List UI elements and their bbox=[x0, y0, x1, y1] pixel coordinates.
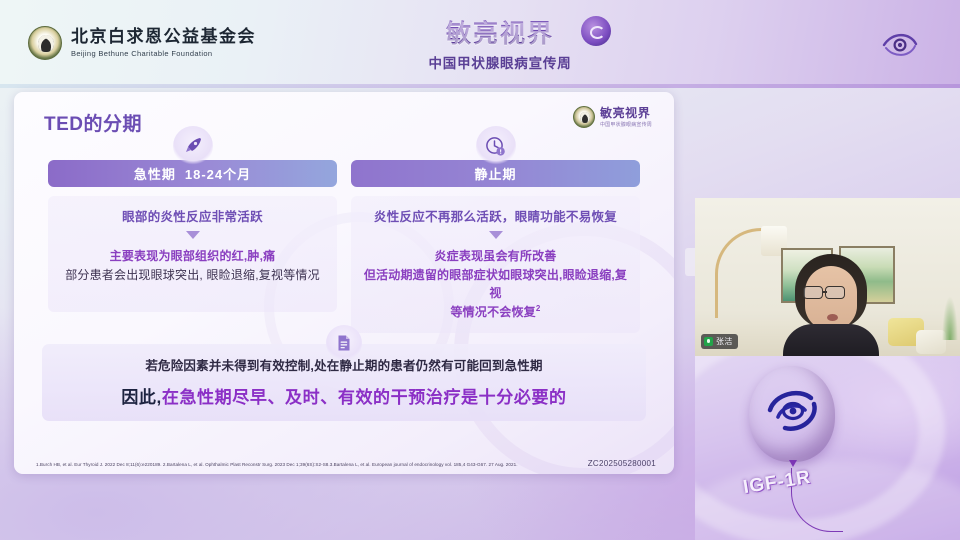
participant-name-badge: 张洁 bbox=[701, 334, 738, 349]
balloon-knot bbox=[789, 460, 797, 467]
participant-figure bbox=[783, 254, 879, 358]
glasses-right-lens bbox=[825, 286, 845, 299]
inactive-line-1: 炎症表现虽会有所改善 bbox=[359, 247, 632, 266]
purple-balloon bbox=[749, 366, 835, 462]
inactive-line-3: 等情况不会恢复2 bbox=[359, 303, 632, 322]
arrow-down-icon bbox=[186, 231, 200, 239]
foundation-brand: 北京白求恩公益基金会 Beijing Bethune Charitable Fo… bbox=[28, 26, 256, 60]
references-footnote: 1.Burch HB, et al. Eur Thyroid J. 2022 D… bbox=[36, 462, 596, 467]
eye-logo-icon bbox=[880, 24, 920, 64]
participant-name: 张洁 bbox=[716, 336, 733, 347]
acute-duration: 18-24个月 bbox=[185, 164, 251, 183]
foundation-name-en: Beijing Bethune Charitable Foundation bbox=[71, 49, 256, 58]
acute-lead-text: 眼部的炎性反应非常活跃 bbox=[56, 206, 329, 225]
conclusion-emphasis: 在急性期尽早、及时、有效的干预治疗是十分必要的 bbox=[162, 388, 567, 407]
panel-collapse-handle[interactable] bbox=[685, 248, 695, 276]
conclusion-band: 若危险因素并未得到有效控制,处在静止期的患者仍然有可能回到急性期 因此,在急性期… bbox=[42, 344, 646, 421]
webinar-stage: 北京白求恩公益基金会 Beijing Bethune Charitable Fo… bbox=[0, 0, 960, 540]
inactive-label: 静止期 bbox=[474, 164, 516, 183]
inactive-lead-text: 炎性反应不再那么活跃，眼睛功能不易恢复 bbox=[359, 206, 632, 225]
clock-alert-icon bbox=[476, 126, 516, 166]
slide-logo-subtitle: 中国甲状腺眼病宣传周 bbox=[600, 121, 652, 128]
mouth bbox=[827, 314, 838, 321]
bethune-seal-icon bbox=[28, 26, 62, 60]
plant bbox=[942, 296, 958, 340]
eye-swirl-icon bbox=[765, 384, 821, 438]
foundation-name-cn: 北京白求恩公益基金会 bbox=[71, 28, 256, 47]
approval-code: ZC202505280001 bbox=[588, 459, 656, 468]
column-body-inactive: 炎性反应不再那么活跃，眼睛功能不易恢复 炎症表现虽会有所改善 但活动期遗留的眼部… bbox=[351, 196, 640, 333]
glasses-left-lens bbox=[803, 286, 823, 299]
campaign-subtitle: 中国甲状腺眼病宣传周 bbox=[395, 52, 605, 72]
column-acute-phase: 急性期 18-24个月 眼部的炎性反应非常活跃 主要表现为眼部组织的红,肿,痛 … bbox=[48, 160, 337, 333]
slide-logo: 敏亮视界 中国甲状腺眼病宣传周 bbox=[573, 106, 652, 128]
inactive-line-2: 但活动期遗留的眼部症状如眼球突出,眼睑退缩,复视 bbox=[359, 266, 632, 303]
top-banner: 北京白求恩公益基金会 Beijing Bethune Charitable Fo… bbox=[0, 0, 960, 88]
acute-line-2: 部分患者会出现眼球突出, 眼睑退缩,复视等情况 bbox=[56, 266, 329, 285]
presentation-slide[interactable]: TED的分期 敏亮视界 中国甲状腺眼病宣传周 急性期 bbox=[14, 92, 674, 474]
arrow-down-icon-2 bbox=[489, 231, 503, 239]
acute-line-1: 主要表现为眼部组织的红,肿,痛 bbox=[56, 247, 329, 266]
balloon-graphic-area: IGF-1R bbox=[695, 356, 960, 540]
slide-seal-icon bbox=[573, 106, 595, 128]
campaign-brand: 敏亮视界 中国甲状腺眼病宣传周 bbox=[395, 14, 605, 72]
reference-superscript: 2 bbox=[536, 304, 541, 313]
slide-logo-title: 敏亮视界 bbox=[600, 107, 652, 119]
phase-columns: 急性期 18-24个月 眼部的炎性反应非常活跃 主要表现为眼部组织的红,肿,痛 … bbox=[48, 160, 640, 333]
acute-label: 急性期 bbox=[134, 164, 176, 183]
inactive-line-3-text: 等情况不会恢复 bbox=[450, 305, 535, 319]
slide-title: TED的分期 bbox=[44, 109, 142, 136]
conclusion-line-2: 因此,在急性期尽早、及时、有效的干预治疗是十分必要的 bbox=[52, 383, 636, 408]
rocket-icon bbox=[173, 126, 213, 166]
campaign-eye-icon bbox=[581, 16, 611, 46]
column-inactive-phase: 静止期 炎性反应不再那么活跃，眼睛功能不易恢复 炎症表现虽会有所改善 但活动期遗… bbox=[351, 160, 640, 333]
campaign-title: 敏亮视界 bbox=[395, 14, 605, 50]
glasses-bridge bbox=[823, 291, 827, 293]
mic-on-icon bbox=[704, 337, 713, 346]
torso bbox=[783, 324, 879, 358]
column-body-acute: 眼部的炎性反应非常活跃 主要表现为眼部组织的红,肿,痛 部分患者会出现眼球突出,… bbox=[48, 196, 337, 312]
conclusion-prefix: 因此, bbox=[121, 388, 162, 407]
participant-video-tile[interactable]: 张洁 bbox=[695, 198, 960, 358]
document-icon bbox=[326, 325, 362, 361]
